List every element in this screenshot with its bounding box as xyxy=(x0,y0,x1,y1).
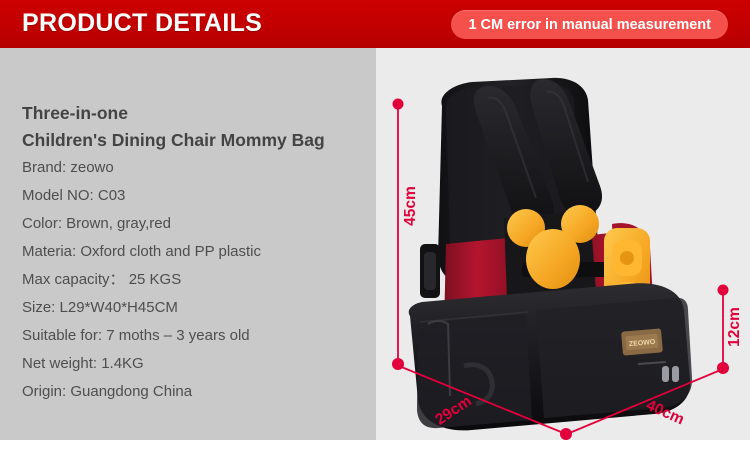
bottom-strip xyxy=(0,440,750,455)
brand-patch: ZEOWO xyxy=(621,328,663,355)
spec-row-material: Materia: Oxford cloth and PP plastic xyxy=(22,238,372,266)
spec-list: Three-in-one Children's Dining Chair Mom… xyxy=(22,100,372,406)
page-header: PRODUCT DETAILS 1 CM error in manual mea… xyxy=(0,0,750,48)
page-title: PRODUCT DETAILS xyxy=(22,9,262,38)
dimension-label-base-height: 12cm xyxy=(726,307,744,347)
measurement-note-label: 1 CM error in manual measurement xyxy=(468,17,711,33)
spec-row-brand: Brand: zeowo xyxy=(22,154,372,182)
measurement-note-badge: 1 CM error in manual measurement xyxy=(451,10,728,39)
spec-row-size: Size: L29*W40*H45CM xyxy=(22,294,372,322)
spec-row-suitable-for: Suitable for: 7 moths – 3 years old xyxy=(22,322,372,350)
spec-row-color: Color: Brown, gray,red xyxy=(22,210,372,238)
product-title-line2: Children's Dining Chair Mommy Bag xyxy=(22,127,372,154)
product-title-line1: Three-in-one xyxy=(22,100,372,127)
spec-panel: Three-in-one Children's Dining Chair Mom… xyxy=(0,48,376,440)
spec-row-net-weight: Net weight: 1.4KG xyxy=(22,350,372,378)
dimension-label-height: 45cm xyxy=(402,186,420,226)
spec-row-origin: Origin: Guangdong China xyxy=(22,378,372,406)
side-clips xyxy=(420,244,440,298)
product-photo: ZEOWO xyxy=(376,48,750,440)
spec-row-model: Model NO: C03 xyxy=(22,182,372,210)
spec-row-max-capacity: Max capacity： 25 KGS xyxy=(22,266,372,294)
